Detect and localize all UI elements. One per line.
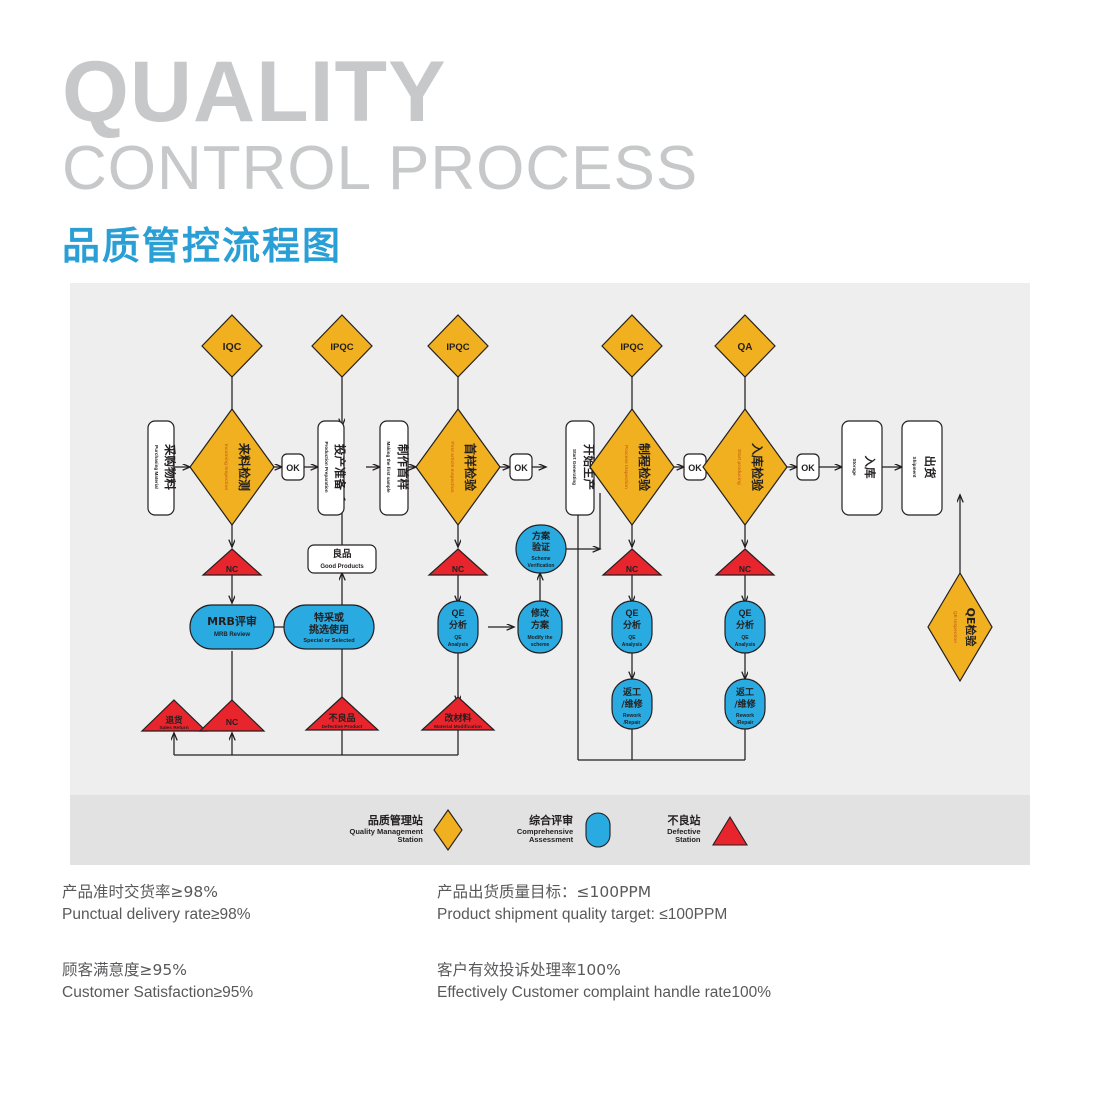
node-special-or-selected[interactable]: 特采或 挑选使用 Special or Selected [284,605,374,649]
legend-assess-en-2: Assessment [517,836,573,845]
legend-item-quality-management-station: 品质管理站 Quality Management Station [350,807,465,853]
node-good-products-cn: 良品 [332,548,351,560]
legend-capsule-icon [581,807,615,853]
node-modify-scheme[interactable]: 修改 方案 Modify the scheme [518,601,562,653]
node-shipment[interactable]: 出货 Shipment [902,421,942,515]
node-storage-inspection[interactable]: 入库检验 Start producing [703,409,787,525]
kpi-punctual-delivery-en: Punctual delivery rate≥98% [62,906,437,924]
kpi-shipment-quality-en: Product shipment quality target: ≤100PPM [437,906,812,924]
node-defective-product-cn: 不良品 [328,712,355,724]
node-shipment-cn: 出货 [923,456,937,479]
node-nc-3-label: NC [626,564,638,574]
kpi-punctual-delivery-cn: 产品准时交货率≥98% [62,880,437,902]
node-scheme-verification-en-1: Scheme [531,556,550,562]
node-qe-analysis-3-cn-2: 分析 [736,619,754,631]
node-material-modification[interactable]: 改材料 Material Modification [422,697,494,730]
node-nc-4[interactable]: NC [716,549,774,575]
node-rework-repair-1-en-2: /Repair [624,720,641,726]
node-rework-repair-2-cn-2: /维修 [734,698,756,710]
node-material-modification-cn: 改材料 [444,712,471,724]
node-incoming-inspection-cn: 来料检测 [237,442,252,491]
node-purchasing[interactable]: 采购物料 Purchasing Material [148,421,177,515]
kpi-complaint-handling: 客户有效投诉处理率100% Effectively Customer compl… [437,958,812,1002]
node-nc-4-label: NC [739,564,751,574]
station-qa-label: QA [738,342,753,353]
node-modify-scheme-cn-2: 方案 [531,619,550,631]
node-incoming-inspection-en: Incoming Inspection [223,444,229,491]
node-storage[interactable]: 入库 Storage [842,421,882,515]
node-qe-analysis-1-en-2: Analysis [448,642,469,648]
kpi-shipment-quality-cn: 产品出货质量目标：≤100PPM [437,880,812,902]
node-nc-1[interactable]: NC [203,549,261,575]
title-control-process: CONTROL PROCESS [62,136,698,201]
node-defective-product[interactable]: 不良品 Defective Product [306,697,378,730]
node-nc-1-label: NC [226,564,238,574]
node-qe-analysis-3-cn-1: QE [738,608,751,618]
station-iqc-label: IQC [223,341,242,353]
node-modify-scheme-en-2: scheme [531,642,550,648]
kpi-block: 产品准时交货率≥98% Punctual delivery rate≥98% 产… [62,880,1042,1036]
node-qe-inspection-en: QE Inspection [952,611,958,643]
node-production-preparation-cn: 投产准备 [333,444,347,490]
node-rework-repair-2-cn-1: 返工 [736,686,754,698]
node-mrb-review[interactable]: MRB评审 MRB Review [190,605,274,649]
node-nc-2[interactable]: NC [429,549,487,575]
node-start-production-en: Start Generating [572,449,577,485]
node-making-first-sample-cn: 制作首样 [396,444,410,490]
node-material-modification-en: Material Modification [434,724,482,730]
node-storage-inspection-cn: 入库检验 [750,443,765,492]
node-nc-3[interactable]: NC [603,549,661,575]
node-rework-repair-1[interactable]: 返工 /维修 Rework /Repair [612,679,652,729]
node-ok-2[interactable]: OK [510,454,532,480]
node-making-first-sample-en: Making the first sample [386,441,391,492]
node-purchasing-en: Purchasing Material [154,445,159,489]
node-nc-bottom-label: NC [226,717,238,727]
node-qe-analysis-2-cn-2: 分析 [623,619,641,631]
node-sales-return[interactable]: 退货 Sales Return [142,700,206,731]
node-storage-cn: 入库 [863,456,877,479]
node-rework-repair-2-en-1: Rework [736,713,754,719]
node-qe-analysis-2[interactable]: QE 分析 QE Analysis [612,601,652,653]
node-nc-2-label: NC [452,564,464,574]
node-production-preparation[interactable]: 投产准备 Production Preparation [318,421,347,515]
legend-diamond-icon [431,807,465,853]
node-mrb-review-cn: MRB评审 [207,614,257,628]
legend-item-comprehensive-assessment: 综合评审 Comprehensive Assessment [517,807,615,853]
node-making-first-sample[interactable]: 制作首样 Making the first sample [380,421,410,515]
station-ipqc-2-label: IPQC [446,342,469,353]
legend-defective-en-2: Station [667,836,700,845]
flowchart: IQC IPQC IPQC IPQC QA 采购物料 Pu [70,283,1030,795]
node-special-or-selected-en: Special or Selected [303,638,355,644]
kpi-shipment-quality: 产品出货质量目标：≤100PPM Product shipment qualit… [437,880,812,924]
station-ipqc-2[interactable]: IPQC [428,315,488,377]
node-qe-analysis-1[interactable]: QE 分析 QE Analysis [438,601,478,653]
legend-qms-en-2: Station [350,836,423,845]
node-first-article-inspection-en: First article Inspection [449,441,455,492]
inspection-station-group: IQC IPQC IPQC IPQC QA [202,315,775,377]
node-qe-inspection-cn: QE检验 [964,608,978,648]
node-purchasing-cn: 采购物料 [163,443,177,490]
node-rework-repair-1-cn-2: /维修 [621,698,643,710]
legend-triangle-icon [709,807,751,853]
legend-qms-cn: 品质管理站 [350,815,423,828]
node-ok-3-label: OK [688,463,702,473]
node-rework-repair-2-en-2: /Repair [737,720,754,726]
node-scheme-verification-en-2: Verification [528,563,555,569]
node-first-article-inspection[interactable]: 首样检验 First article Inspection [416,409,500,525]
node-production-preparation-en: Production Preparation [324,441,329,492]
node-scheme-verification-cn-1: 方案 [532,530,551,542]
node-process-inspection[interactable]: 制程检验 Process Inspection [590,409,674,525]
title-quality: QUALITY [62,52,698,134]
node-storage-inspection-en: Start producing [736,449,742,485]
station-ipqc-3[interactable]: IPQC [602,315,662,377]
node-qe-analysis-2-en-2: Analysis [622,642,643,648]
node-sales-return-en: Sales Return [159,725,188,731]
node-qe-inspection[interactable]: QE检验 QE Inspection [928,573,992,681]
node-qe-analysis-1-cn-1: QE [451,608,464,618]
kpi-punctual-delivery: 产品准时交货率≥98% Punctual delivery rate≥98% [62,880,437,924]
kpi-customer-satisfaction-cn: 顾客满意度≥95% [62,958,437,980]
node-qe-analysis-1-cn-2: 分析 [449,619,467,631]
node-qe-analysis-3[interactable]: QE 分析 QE Analysis [725,601,765,653]
node-storage-en: Storage [852,458,857,476]
legend-item-defective-station: 不良站 Defective Station [667,807,750,853]
title-chinese: 品质管控流程图 [62,215,698,270]
node-qe-analysis-3-en-1: QE [741,635,749,641]
kpi-row-1: 产品准时交货率≥98% Punctual delivery rate≥98% 产… [62,880,1042,924]
node-special-or-selected-cn-1: 特采或 [314,611,344,624]
station-ipqc-3-label: IPQC [620,342,643,353]
station-qa[interactable]: QA [715,315,775,377]
node-rework-repair-1-en-1: Rework [623,713,641,719]
node-modify-scheme-en-1: Modify the [528,635,553,641]
kpi-customer-satisfaction-en: Customer Satisfaction≥95% [62,984,437,1002]
node-special-or-selected-cn-2: 挑选使用 [309,623,349,636]
kpi-complaint-handling-en: Effectively Customer complaint handle ra… [437,984,812,1002]
node-incoming-inspection[interactable]: 来料检测 Incoming Inspection [190,409,274,525]
node-qe-analysis-2-cn-1: QE [625,608,638,618]
node-defective-product-en: Defective Product [322,724,363,730]
node-process-inspection-cn: 制程检验 [637,443,652,492]
node-process-inspection-en: Process Inspection [623,445,629,489]
node-scheme-verification-cn-2: 验证 [532,541,550,553]
legend-defective-cn: 不良站 [667,815,700,828]
node-mrb-review-en: MRB Review [214,632,250,638]
kpi-row-2: 顾客满意度≥95% Customer Satisfaction≥95% 客户有效… [62,958,1042,1002]
node-ok-4[interactable]: OK [797,454,819,480]
legend-assess-cn: 综合评审 [517,815,573,828]
node-nc-bottom[interactable]: NC [200,700,264,731]
legend: 品质管理站 Quality Management Station 综合评审 Co… [70,795,1030,865]
node-qe-analysis-1-en-1: QE [454,635,462,641]
kpi-complaint-handling-cn: 客户有效投诉处理率100% [437,958,812,980]
station-ipqc-1[interactable]: IPQC [312,315,372,377]
node-first-article-inspection-cn: 首样检验 [463,443,478,492]
node-ok-1-label: OK [286,463,300,473]
node-modify-scheme-cn-1: 修改 [530,607,550,619]
node-sales-return-cn: 退货 [165,715,183,726]
node-good-products-en: Good Products [320,564,364,570]
node-good-products[interactable]: 良品 Good Products [308,545,376,573]
node-scheme-verification[interactable]: 方案 验证 Scheme Verification [516,525,566,573]
station-iqc[interactable]: IQC [202,315,262,377]
node-ok-4-label: OK [801,463,815,473]
kpi-customer-satisfaction: 顾客满意度≥95% Customer Satisfaction≥95% [62,958,437,1002]
page-header: QUALITY CONTROL PROCESS 品质管控流程图 [62,52,698,270]
node-qe-analysis-2-en-1: QE [628,635,636,641]
station-ipqc-1-label: IPQC [330,342,353,353]
node-rework-repair-1-cn-1: 返工 [623,686,641,698]
node-qe-analysis-3-en-2: Analysis [735,642,756,648]
node-shipment-en: Shipment [912,457,917,478]
node-ok-2-label: OK [514,463,528,473]
node-ok-1[interactable]: OK [282,454,304,480]
node-rework-repair-2[interactable]: 返工 /维修 Rework /Repair [725,679,765,729]
